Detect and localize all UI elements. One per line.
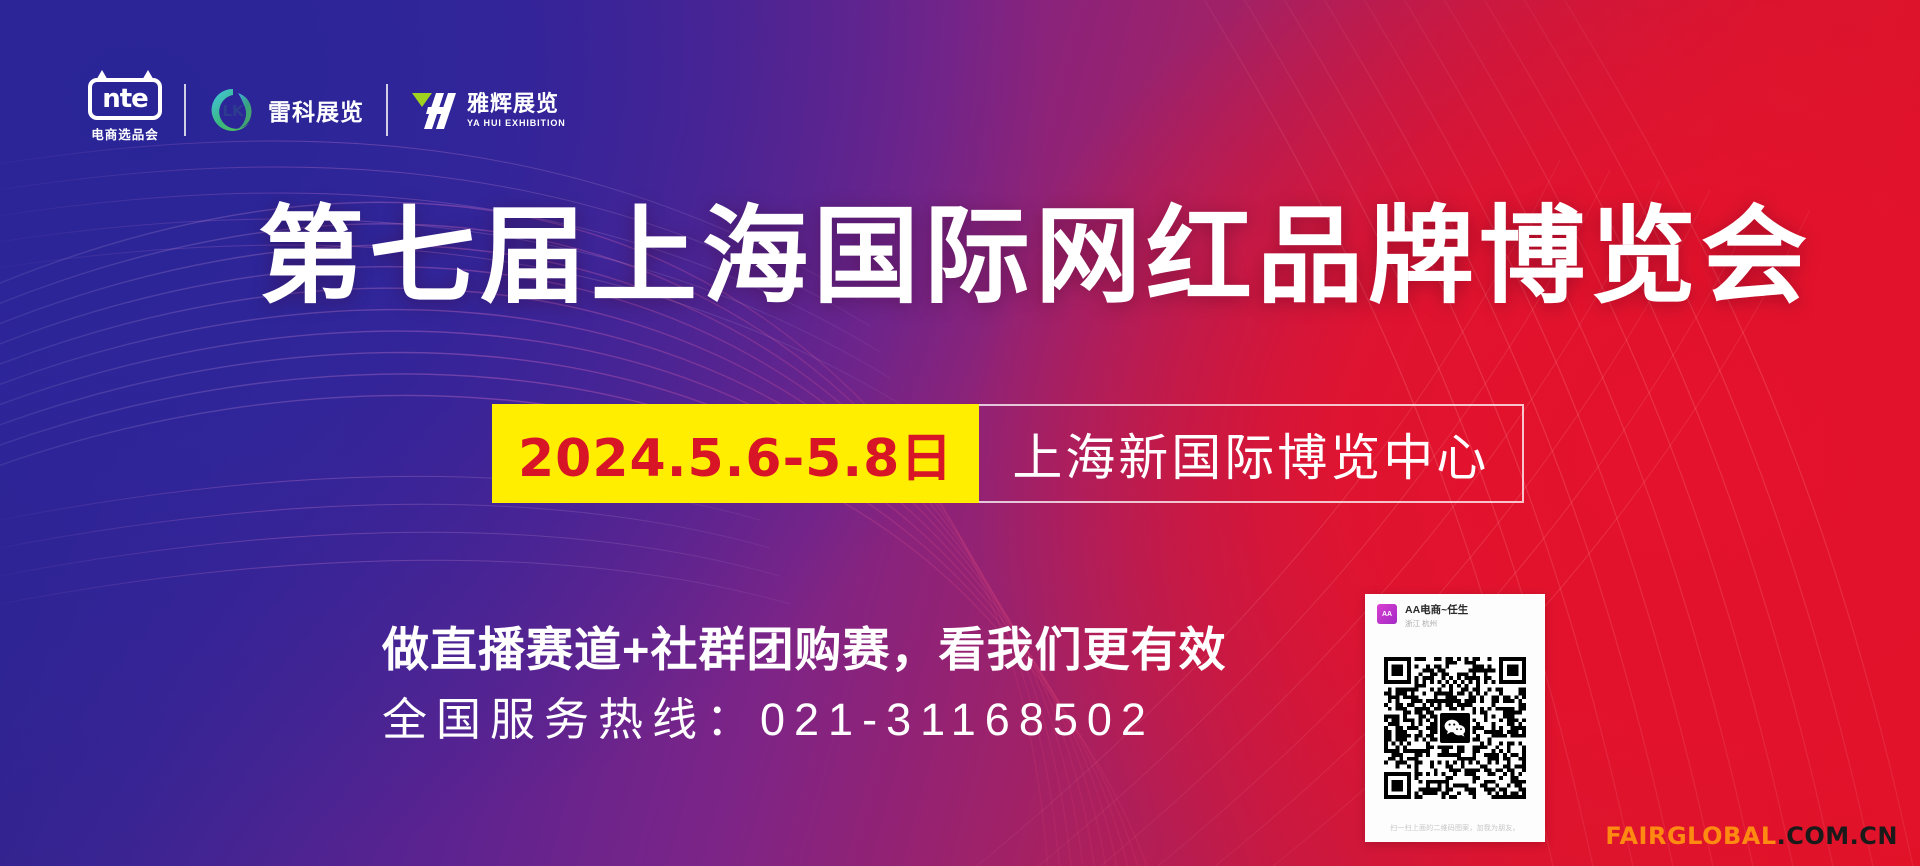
contact-region: 浙江 杭州 — [1405, 619, 1468, 628]
qr-card-footer: 扫一扫上面的二维码图案，加我为朋友。 — [1377, 823, 1533, 836]
site-watermark: FAIRGLOBAL.COM.CN — [1605, 822, 1898, 850]
event-date-chip: 2024.5.6-5.8日 — [492, 404, 979, 503]
hotline-text: 全国服务热线：021-31168502 — [382, 690, 1226, 751]
qr-card-header: AA AA电商~任生 浙江 杭州 — [1377, 604, 1533, 629]
qr-code-area[interactable] — [1377, 633, 1533, 824]
logo-nte: nte 电商选品会 — [88, 78, 162, 143]
yahui-caption-en: YA HUI EXHIBITION — [467, 119, 566, 128]
wechat-qr-card[interactable]: AA AA电商~任生 浙江 杭州 扫一扫上面的二 — [1365, 594, 1545, 842]
watermark-brand: FAIRGLOBAL — [1605, 822, 1776, 850]
slogan-text: 做直播赛道+社群团购赛，看我们更有效 — [382, 620, 1226, 680]
watermark-tld: .COM.CN — [1777, 822, 1898, 850]
logo-bar: nte 电商选品会 LK — [88, 78, 566, 142]
date-venue-strip: 2024.5.6-5.8日 上海新国际博览中心 — [492, 404, 1524, 503]
wechat-icon — [1440, 713, 1470, 743]
logo-leike: LK 雷科展览 — [208, 85, 364, 135]
nte-logo-icon: nte — [88, 78, 162, 120]
event-venue-chip: 上海新国际博览中心 — [979, 404, 1524, 503]
yahui-caption: 雅辉展览 — [467, 93, 566, 115]
event-venue-text: 上海新国际博览中心 — [1012, 418, 1489, 490]
leike-logo-icon: LK — [208, 85, 258, 135]
event-title: 第七届上海国际网红品牌博览会 — [0, 196, 1920, 319]
leike-caption: 雷科展览 — [268, 93, 364, 127]
nte-caption: 电商选品会 — [91, 124, 159, 143]
svg-text:LK: LK — [222, 102, 245, 120]
logo-yahui: 雅辉展览 YA HUI EXHIBITION — [410, 89, 566, 131]
nte-mark-text: nte — [102, 86, 148, 112]
avatar: AA — [1377, 604, 1397, 624]
yahui-logo-icon — [410, 89, 458, 131]
slogan-block: 做直播赛道+社群团购赛，看我们更有效 全国服务热线：021-31168502 — [382, 620, 1226, 751]
logo-divider-1 — [184, 84, 186, 136]
contact-name: AA电商~任生 — [1405, 604, 1468, 617]
event-date-text: 2024.5.6-5.8日 — [518, 416, 953, 491]
event-banner: nte 电商选品会 LK — [0, 0, 1920, 866]
qr-card-identity: AA电商~任生 浙江 杭州 — [1405, 604, 1468, 629]
logo-divider-2 — [386, 84, 388, 136]
